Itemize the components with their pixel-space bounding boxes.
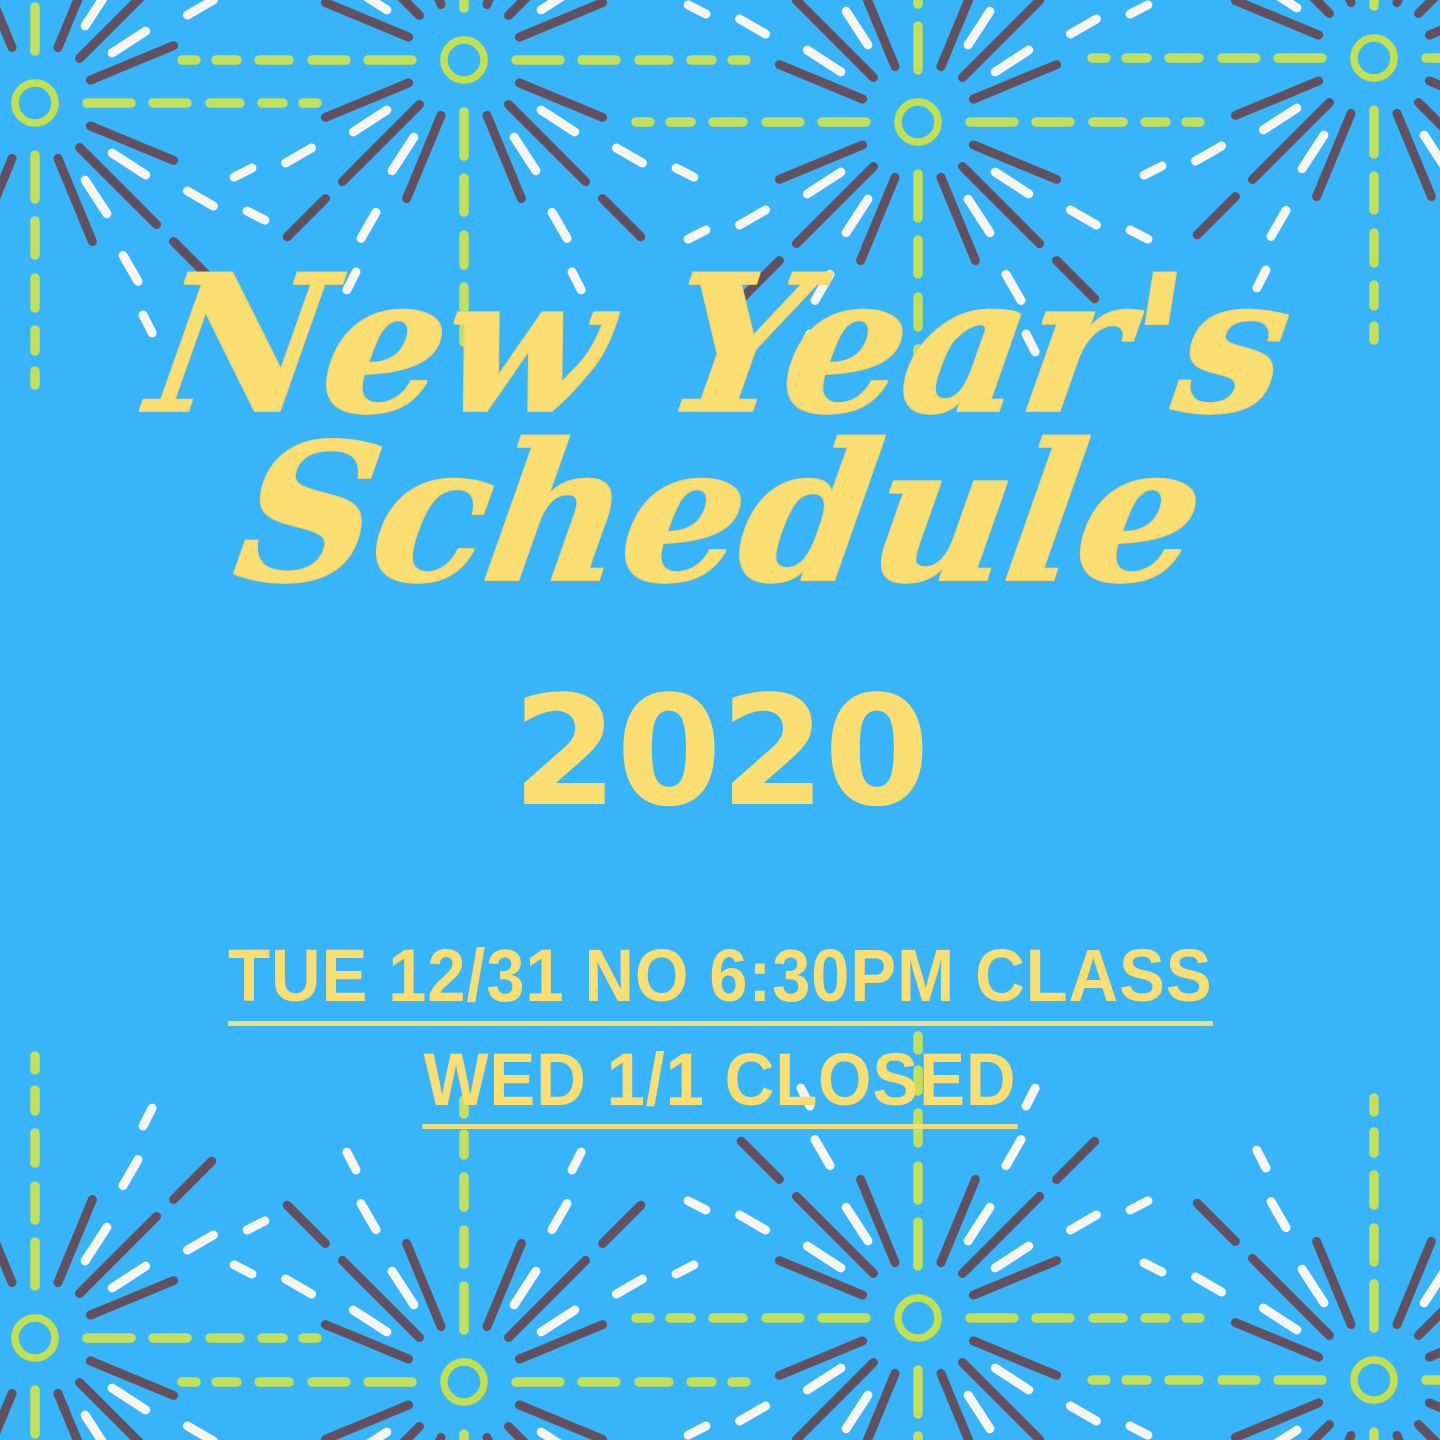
schedule-line-2: WED 1/1 CLOSED: [422, 1040, 1017, 1130]
headline-line-2: Schedule: [141, 427, 1299, 602]
schedule-line-1: TUE 12/31 NO 6:30PM CLASS: [228, 936, 1212, 1026]
headline-block: New Year's Schedule: [155, 258, 1285, 602]
poster-content: New Year's Schedule 2020 TUE 12/31 NO 6:…: [0, 0, 1440, 1440]
schedule-block: TUE 12/31 NO 6:30PM CLASS WED 1/1 CLOSED: [191, 936, 1250, 1130]
year-text: 2020: [512, 676, 928, 828]
poster-canvas: New Year's Schedule 2020 TUE 12/31 NO 6:…: [0, 0, 1440, 1440]
